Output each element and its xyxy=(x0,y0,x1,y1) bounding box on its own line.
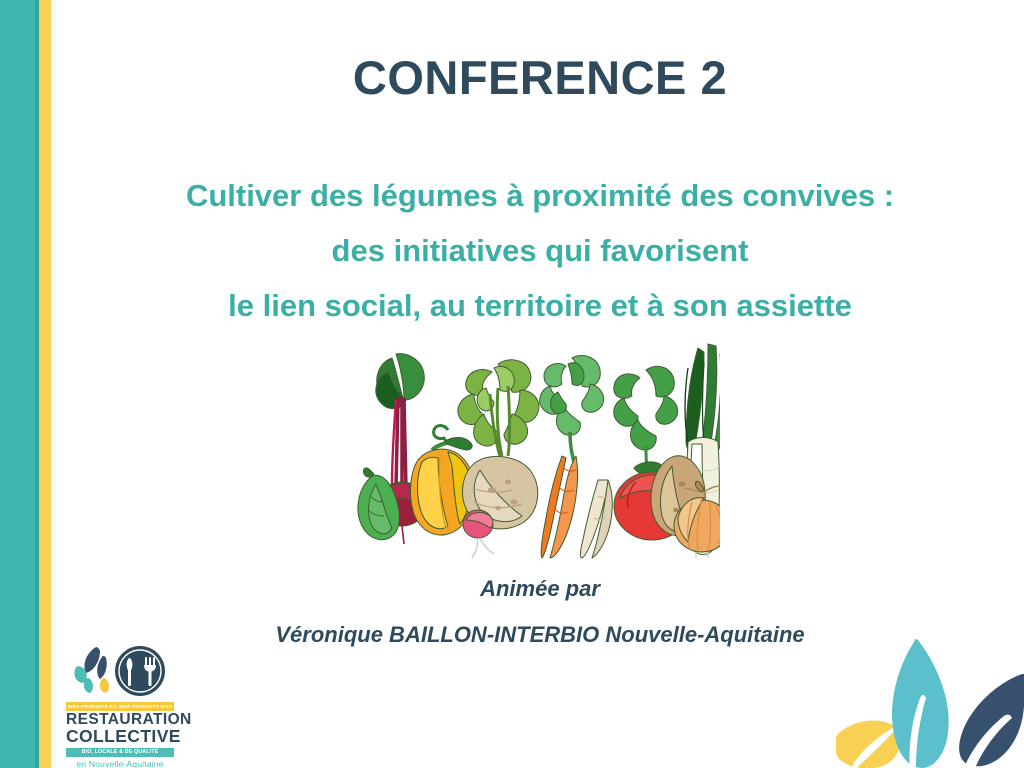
credits-line-1: Animée par xyxy=(90,566,990,612)
left-cream-bar xyxy=(51,0,56,768)
teal-leaf xyxy=(892,639,949,768)
logo-mark xyxy=(66,645,178,701)
left-yellow-bar xyxy=(39,0,51,768)
logo-tagline-top-band: MES PRODUITS ICI, MES PRODUITS D'ICI xyxy=(66,702,174,711)
subtitle: Cultiver des légumes à proximité des con… xyxy=(90,168,990,334)
logo-tagline-top: MES PRODUITS ICI, MES PRODUITS D'ICI xyxy=(68,704,172,710)
logo-word-collective: COLLECTIVE xyxy=(66,728,174,746)
subtitle-line-2: des initiatives qui favorisent xyxy=(90,223,990,278)
logo-region: en Nouvelle-Aquitaine xyxy=(66,759,174,768)
logo-tagline-bottom: BIO, LOCALE & DE QUALITÉ xyxy=(82,749,159,755)
subtitle-line-1: Cultiver des légumes à proximité des con… xyxy=(90,168,990,223)
left-teal-bar xyxy=(0,0,35,768)
navy-leaf xyxy=(959,674,1024,768)
logo-tagline-bottom-band: BIO, LOCALE & DE QUALITÉ xyxy=(66,748,174,757)
vegetables-illustration xyxy=(352,338,720,560)
yellow-leaf xyxy=(836,720,900,768)
slide-canvas: CONFERENCE 2 Cultiver des légumes à prox… xyxy=(0,0,1024,768)
restauration-collective-logo: MES PRODUITS ICI, MES PRODUITS D'ICI RES… xyxy=(66,645,178,757)
decorative-leaves xyxy=(836,636,1024,768)
subtitle-line-3: le lien social, au territoire et à son a… xyxy=(90,278,990,333)
page-title: CONFERENCE 2 xyxy=(56,52,1024,105)
